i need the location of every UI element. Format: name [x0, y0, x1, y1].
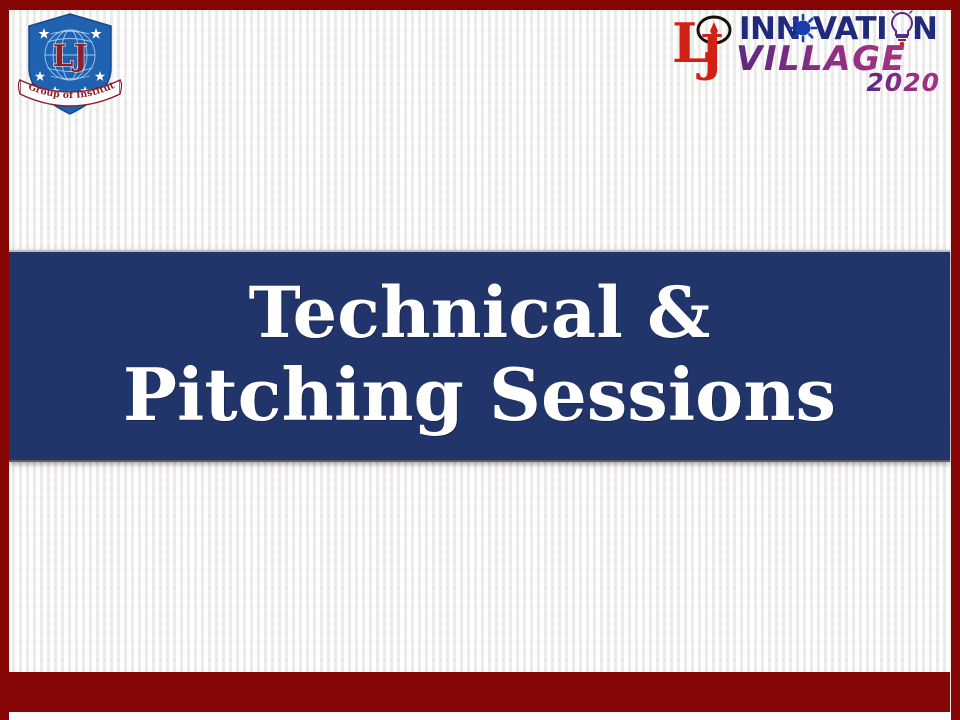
- lj-shield-icon: LJ LJ Group of Institutes: [14, 8, 126, 120]
- slide-title-line-1: Technical &: [249, 278, 711, 347]
- innovation-village-logo-icon: L J INN VAT: [670, 6, 948, 92]
- lj-group-shield-logo: LJ LJ Group of Institutes: [14, 8, 126, 120]
- lj-pen-monogram-icon: L J: [672, 11, 730, 82]
- frame-bottom-edge-left: [0, 712, 9, 720]
- frame-bottom-edge-right: [951, 712, 960, 720]
- year-2020: 2020: [866, 68, 940, 92]
- slide-root: LJ LJ Group of Institutes L: [0, 0, 960, 720]
- innovation-word-part3: N: [912, 11, 937, 47]
- innovation-village-logo: L J INN VAT: [670, 6, 948, 92]
- frame-bottom-bar: [9, 672, 950, 712]
- frame-border-left: [0, 0, 9, 720]
- title-banner: Technical & Pitching Sessions: [9, 250, 950, 462]
- frame-bottom-edge: [0, 712, 960, 720]
- slide-title-line-2: Pitching Sessions: [123, 359, 836, 430]
- frame-border-right: [951, 0, 960, 720]
- frame-border-top: [0, 0, 960, 10]
- svg-text:J: J: [696, 23, 724, 82]
- svg-text:LJ: LJ: [52, 39, 87, 74]
